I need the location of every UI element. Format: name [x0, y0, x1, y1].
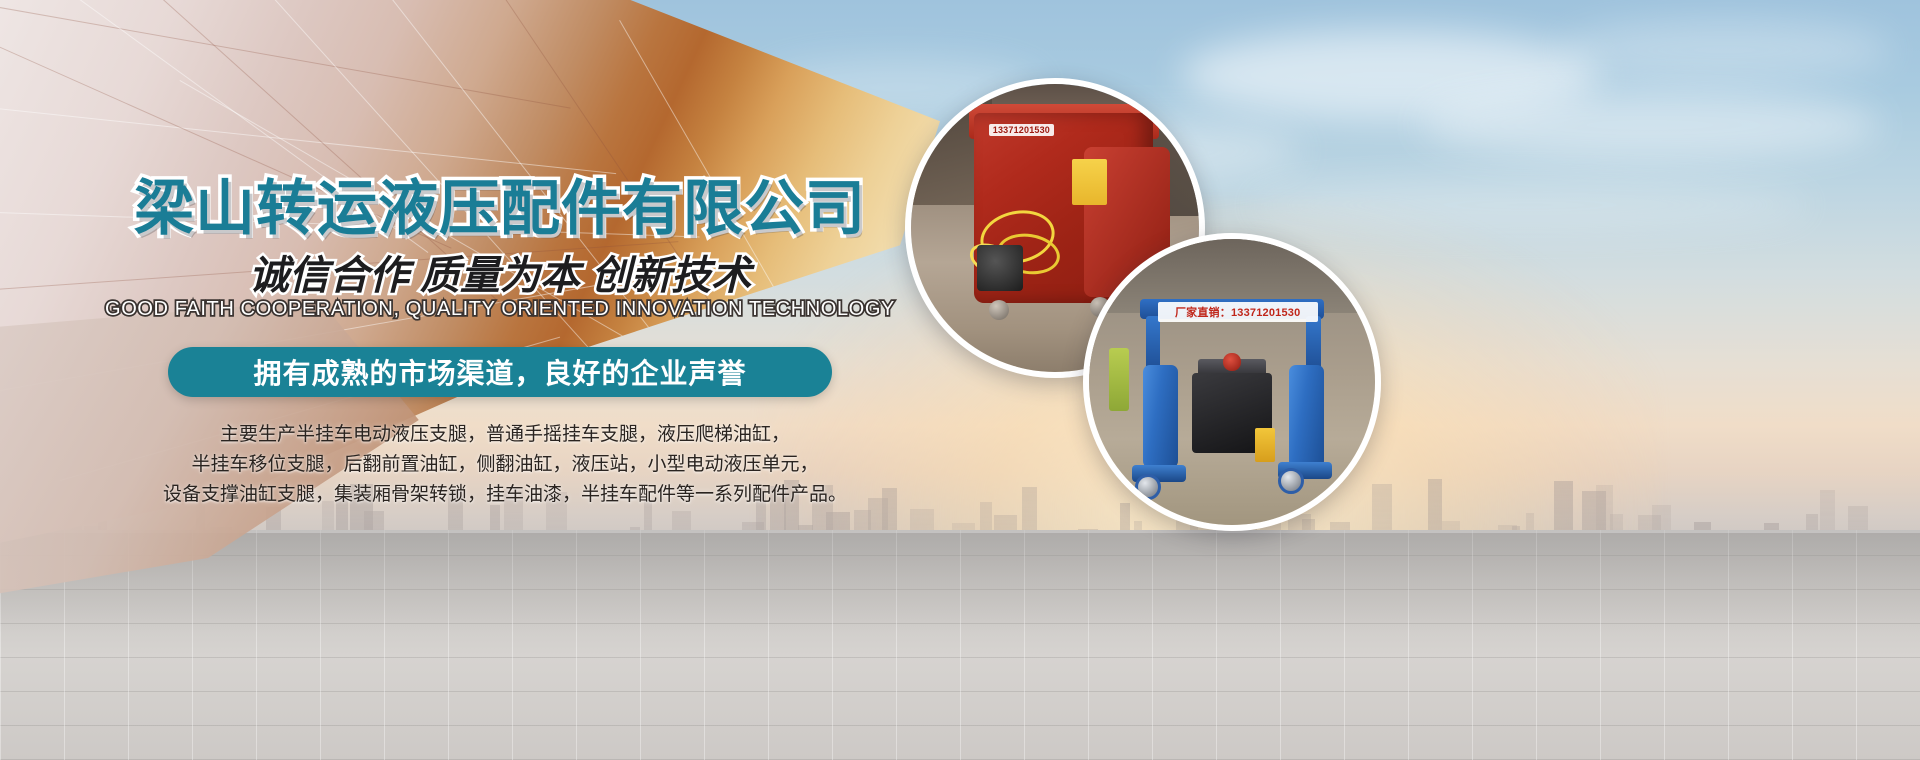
highlight-pill-text: 拥有成熟的市场渠道，良好的企业声誉: [168, 347, 832, 397]
slogan-chinese: 诚信合作 质量为本 创新技术: [0, 243, 1000, 301]
banner-text-block: 梁山转运液压配件有限公司 诚信合作 质量为本 创新技术 GOOD FAITH C…: [0, 0, 1020, 760]
caster-wheel: [1278, 468, 1304, 494]
description-line: 设备支撑油缸支腿，集装厢骨架转锁，挂车油漆，半挂车配件等一系列配件产品。: [0, 480, 1010, 510]
description-line: 主要生产半挂车电动液压支腿，普通手摇挂车支腿，液压爬梯油缸，: [0, 420, 1010, 450]
hydraulic-cylinder: [1289, 365, 1323, 468]
product-photo-blue-machine[interactable]: 厂家直销：13371201530: [1083, 233, 1381, 531]
green-part: [1109, 348, 1129, 411]
cloud: [1560, 20, 1890, 80]
company-title: 梁山转运液压配件有限公司: [0, 160, 1000, 247]
yellow-sticker: [1072, 159, 1107, 205]
phone-plate-blue: 厂家直销：13371201530: [1158, 302, 1318, 322]
cloud: [1420, 90, 1880, 160]
description-paragraph: 主要生产半挂车电动液压支腿，普通手摇挂车支腿，液压爬梯油缸， 半挂车移位支腿，后…: [0, 420, 1010, 510]
red-knob: [1223, 353, 1240, 370]
slogan-english: GOOD FAITH COOPERATION, QUALITY ORIENTED…: [0, 298, 1000, 321]
highlight-pill: 拥有成熟的市场渠道，良好的企业声誉: [168, 347, 832, 397]
description-line: 半挂车移位支腿，后翻前置油缸，侧翻油缸，液压站，小型电动液压单元，: [0, 450, 1010, 480]
promo-banner: 13371201530 厂家直销：13371201530 梁山转运液压配件有限公…: [0, 0, 1920, 760]
yellow-sticker: [1255, 428, 1275, 462]
hydraulic-cylinder: [1143, 365, 1177, 468]
cloud: [1250, 180, 1810, 230]
blue-photo-content: 厂家直销：13371201530: [1089, 239, 1375, 525]
caster-wheel: [1135, 474, 1161, 500]
